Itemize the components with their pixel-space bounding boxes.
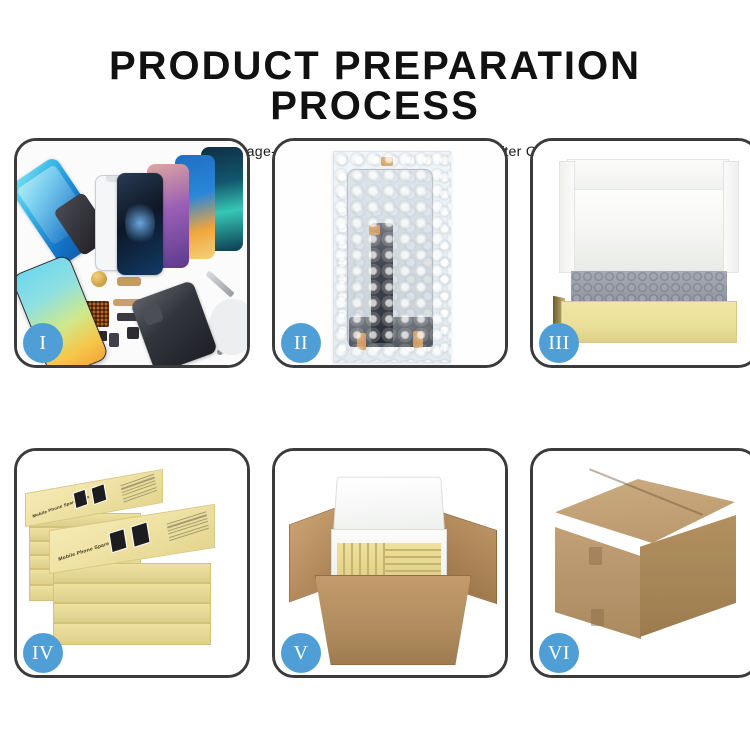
tape-piece-4: [413, 331, 423, 348]
page-title: PRODUCT PREPARATION PROCESS: [0, 0, 750, 126]
tape-piece-3: [357, 333, 366, 350]
small-part-4: [109, 333, 119, 347]
header: PRODUCT PREPARATION PROCESS All products…: [0, 0, 750, 161]
small-part-5: [127, 327, 139, 339]
step-badge-3: III: [539, 323, 579, 363]
tweezer-tool: [205, 270, 234, 297]
box-thumbnail-4: [130, 521, 150, 548]
phone-front-dark: [117, 173, 163, 275]
carton-tape-upper: [589, 547, 602, 565]
box-flap-left: [559, 161, 575, 273]
box-spec-lines-front: [167, 511, 210, 543]
carton-tape-lower: [591, 609, 604, 626]
step-card-3: III: [530, 138, 750, 368]
step-badge-4: IV: [23, 633, 63, 673]
bubble-wrap-layer: [571, 271, 727, 303]
foam-sheet: [569, 189, 727, 271]
step-card-1: I: [14, 138, 250, 368]
step-badge-6: VI: [539, 633, 579, 673]
tape-piece-2: [369, 225, 380, 235]
box-spec-lines-back: [121, 474, 158, 505]
step-badge-1: I: [23, 323, 63, 363]
box-thumbnail-3: [108, 528, 127, 553]
styrofoam-lid: [333, 477, 445, 531]
stack-front-layer-4: [53, 623, 211, 645]
step-card-4: Mobile Phone Spare Parts Mobile: [14, 448, 250, 678]
stack-front-layer-3: [53, 603, 211, 623]
box-flap-right: [723, 161, 739, 273]
step-card-2: II: [272, 138, 508, 368]
vibration-motor: [91, 271, 107, 287]
stack-front-layer-2: [53, 583, 211, 603]
step-badge-5: V: [281, 633, 321, 673]
step-badge-2: II: [281, 323, 321, 363]
product-preparation-infographic: PRODUCT PREPARATION PROCESS All products…: [0, 0, 750, 750]
step-card-5: V: [272, 448, 508, 678]
box-thumbnail-2: [91, 483, 108, 505]
carton-body: [315, 575, 471, 665]
yellow-box-body: [561, 301, 737, 343]
tape-piece-1: [381, 157, 393, 166]
step-card-6: VI: [530, 448, 750, 678]
phone-chassis: [130, 280, 218, 365]
flex-cable-1: [117, 277, 141, 286]
steps-grid: I II: [14, 138, 738, 692]
box-thumbnail-1: [73, 489, 89, 510]
